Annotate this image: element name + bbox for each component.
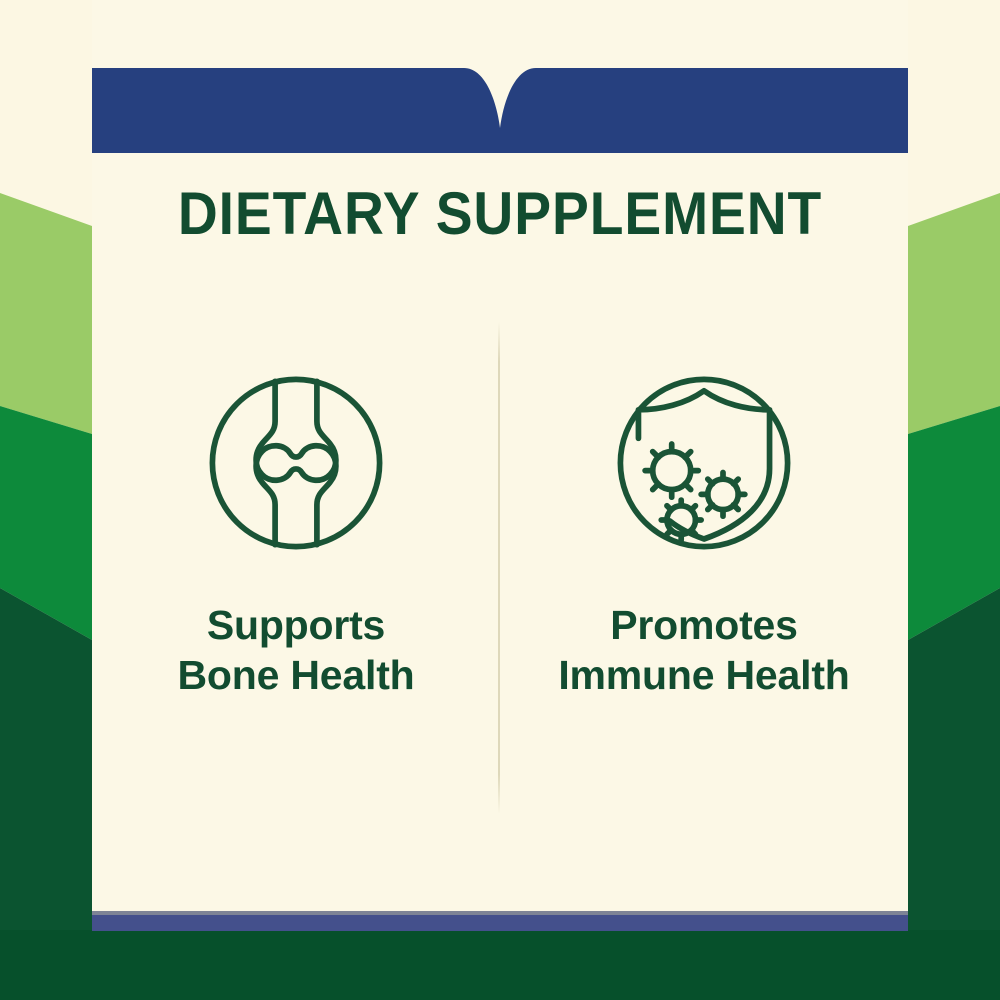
bottom-green-field xyxy=(0,930,1000,1000)
left-light-green-band xyxy=(0,193,92,434)
right-light-green-band xyxy=(908,193,1000,434)
germ-small xyxy=(661,500,701,540)
benefit-label-bone-health: Supports Bone Health xyxy=(178,600,415,700)
header-blue-band xyxy=(92,68,908,153)
footer-blue-bar xyxy=(92,915,908,931)
bone-joint-icon xyxy=(201,368,391,558)
right-green-edge xyxy=(908,930,1000,1000)
supplement-label-graphic: DIETARY SUPPLEMENT Supports Bone Health xyxy=(0,0,1000,1000)
benefit-item-bone-health: Supports Bone Health xyxy=(92,330,500,800)
page-title: DIETARY SUPPLEMENT xyxy=(125,182,876,245)
benefit-item-immune-health: Promotes Immune Health xyxy=(500,330,908,800)
germ-large xyxy=(645,444,698,497)
germ-medium xyxy=(701,473,745,517)
blue-band-shape xyxy=(92,68,908,153)
left-green-edge xyxy=(0,930,92,1000)
benefit-label-immune-health: Promotes Immune Health xyxy=(558,600,849,700)
shield-germs-icon xyxy=(609,368,799,558)
benefits-row: Supports Bone Health xyxy=(92,330,908,800)
